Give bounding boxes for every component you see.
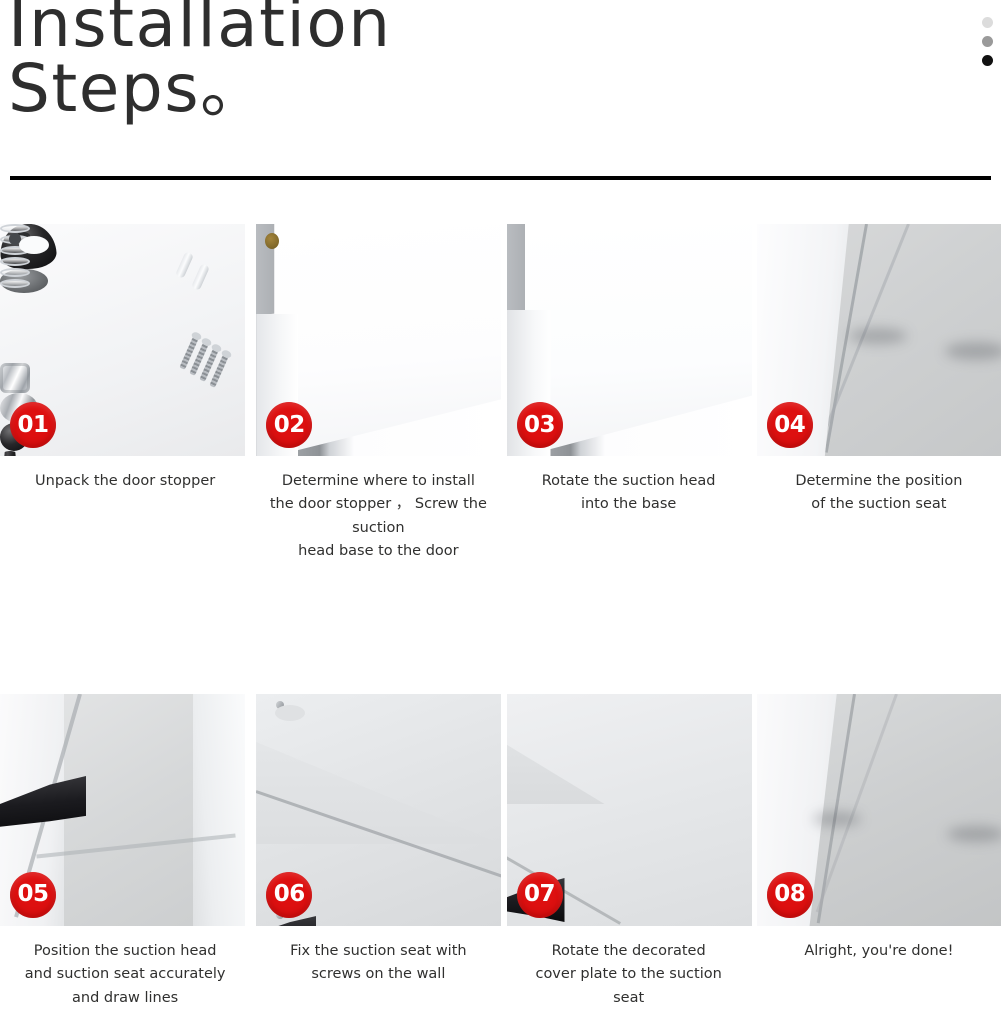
step-number-08: 08: [774, 883, 805, 906]
step-caption-07: Rotate the decorated cover plate to the …: [507, 940, 751, 1010]
step-badge-02: 02: [266, 402, 312, 448]
step-card-01: 01 Unpack the door stopper: [0, 224, 250, 564]
step-card-06: 06 Fix the suction seat with screws on t…: [250, 694, 500, 1010]
step-number-06: 06: [274, 883, 305, 906]
installation-steps-grid: 01 Unpack the door stopper 02 Determine …: [0, 224, 1001, 1010]
step-photo-04[interactable]: 04: [757, 224, 1001, 456]
pager-dot-2[interactable]: [982, 36, 993, 47]
step-photo-06[interactable]: 06: [256, 694, 501, 926]
spring-part: [0, 293, 30, 363]
pager-dot-1[interactable]: [982, 17, 993, 28]
step-card-04: 04 Determine the position of the suction…: [751, 224, 1001, 564]
stem-neck-part: [0, 451, 20, 456]
step-card-02: 02 Determine where to install the door s…: [250, 224, 500, 564]
object-shadow: [947, 826, 1001, 842]
wall-plug-part: [175, 251, 194, 278]
step-badge-03: 03: [517, 402, 563, 448]
step-photo-07[interactable]: 07: [507, 694, 752, 926]
step-card-08: 08 Alright, you're done!: [751, 694, 1001, 1010]
step-card-03: 03 Rotate the suction head into the base: [501, 224, 751, 564]
steps-row-2: 05 Position the suction head and suction…: [0, 694, 1001, 1010]
step-number-04: 04: [774, 414, 805, 437]
step-photo-01[interactable]: 01: [0, 224, 245, 456]
object-shadow: [945, 342, 1001, 360]
object-shadow: [813, 812, 861, 826]
step-number-01: 01: [17, 414, 48, 437]
step-caption-06: Fix the suction seat with screws on the …: [256, 940, 500, 987]
step-number-02: 02: [274, 414, 305, 437]
wall-plug-part: [191, 263, 210, 290]
chrome-nut-part: [0, 363, 30, 393]
step-card-07: 07 Rotate the decorated cover plate to t…: [501, 694, 751, 1010]
step-number-07: 07: [524, 883, 555, 906]
wall-corner: [193, 694, 245, 926]
pager-dots[interactable]: [982, 17, 993, 66]
step-photo-03[interactable]: 03: [507, 224, 752, 456]
page-header: Installation Steps。: [0, 0, 1001, 182]
header-divider: [10, 176, 991, 180]
object-shadow: [849, 328, 907, 344]
step-photo-05[interactable]: 05: [0, 694, 245, 926]
pager-dot-3[interactable]: [982, 55, 993, 66]
step-number-03: 03: [524, 414, 555, 437]
step-caption-04: Determine the position of the suction se…: [757, 470, 1001, 517]
step-badge-01: 01: [10, 402, 56, 448]
step-caption-01: Unpack the door stopper: [0, 470, 250, 493]
step-caption-02: Determine where to install the door stop…: [256, 470, 500, 564]
step-number-05: 05: [17, 883, 48, 906]
step-badge-04: 04: [767, 402, 813, 448]
step-caption-08: Alright, you're done!: [757, 940, 1001, 963]
step-badge-08: 08: [767, 872, 813, 918]
page-title: Installation Steps。: [8, 0, 828, 121]
step-badge-05: 05: [10, 872, 56, 918]
step-card-05: 05 Position the suction head and suction…: [0, 694, 250, 1010]
step-caption-05: Position the suction head and suction se…: [0, 940, 250, 1010]
step-badge-06: 06: [266, 872, 312, 918]
step-badge-07: 07: [517, 872, 563, 918]
steps-row-1: 01 Unpack the door stopper 02 Determine …: [0, 224, 1001, 564]
step-photo-02[interactable]: 02: [256, 224, 501, 456]
step-caption-03: Rotate the suction head into the base: [507, 470, 751, 517]
step-photo-08[interactable]: 08: [757, 694, 1001, 926]
